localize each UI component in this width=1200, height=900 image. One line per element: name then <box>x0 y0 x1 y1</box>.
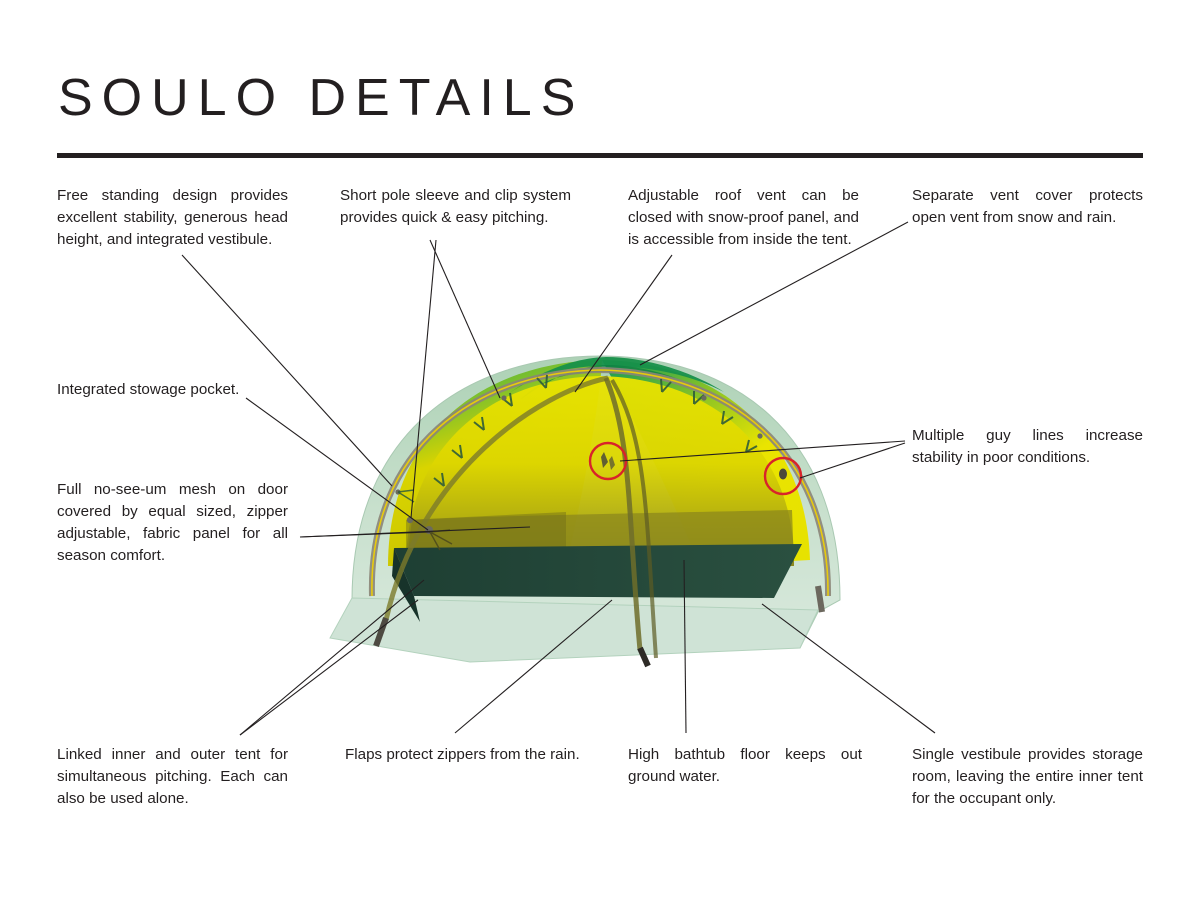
leader-guy-side <box>800 443 905 478</box>
callout-vent-cover: Separate vent cover protects open vent f… <box>912 185 1143 229</box>
leader-linked-a <box>240 580 424 735</box>
leader-pole-sleeve-a <box>430 240 500 398</box>
pole-clips <box>434 375 757 486</box>
leader-vestibule <box>762 604 935 733</box>
callout-free-standing: Free standing design provides excellent … <box>57 185 288 251</box>
leader-lines <box>182 222 935 735</box>
callout-linked-tent: Linked inner and outer tent for simultan… <box>57 744 288 810</box>
leader-free-standing <box>182 255 392 486</box>
callout-mesh-door: Full no-see-um mesh on door covered by e… <box>57 479 288 567</box>
pole-sleeve-grommets <box>395 395 762 534</box>
callout-stowage-pocket: Integrated stowage pocket. <box>57 379 288 401</box>
page-title: SOULO DETAILS <box>58 72 584 124</box>
callout-pole-sleeve: Short pole sleeve and clip system provid… <box>340 185 571 229</box>
tent-outer-shell <box>330 356 840 662</box>
guy-line-tabs <box>601 452 787 480</box>
callout-vestibule: Single vestibule provides storage room, … <box>912 744 1143 810</box>
leader-bathtub <box>684 560 686 733</box>
callout-guy-lines: Multiple guy lines increase stability in… <box>912 425 1143 469</box>
leader-flaps <box>455 600 612 733</box>
leader-mesh-door <box>300 527 530 537</box>
leader-guy-front <box>620 441 905 461</box>
leader-pole-sleeve-b <box>411 240 436 518</box>
callout-flaps: Flaps protect zippers from the rain. <box>345 744 590 766</box>
interior-detail <box>398 490 452 550</box>
leader-roof-vent <box>575 255 672 392</box>
leader-linked-b <box>240 600 418 735</box>
tent-canopy <box>388 357 810 566</box>
callout-roof-vent: Adjustable roof vent can be closed with … <box>628 185 859 251</box>
callout-bathtub-floor: High bathtub floor keeps out ground wate… <box>628 744 862 788</box>
title-divider <box>57 153 1143 158</box>
tent-inner-body <box>406 376 794 566</box>
guy-line-highlights <box>590 443 801 494</box>
leader-mesh-door-b <box>300 532 430 537</box>
soulo-details-page: SOULO DETAILS <box>0 0 1200 900</box>
highlight-circle-front <box>590 443 626 479</box>
highlight-circle-side <box>765 458 801 494</box>
tent-poles <box>372 370 828 666</box>
bathtub-floor <box>392 544 802 622</box>
